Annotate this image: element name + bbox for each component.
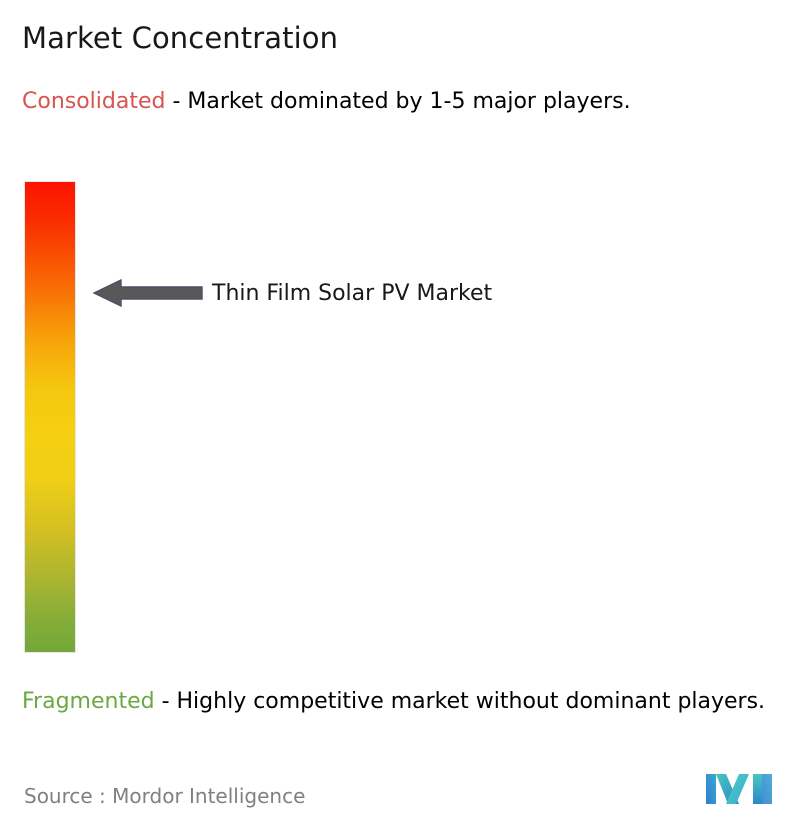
- fragmented-keyword: Fragmented: [22, 689, 155, 714]
- market-position-arrow-icon: [93, 277, 203, 309]
- source-text: Source : Mordor Intelligence: [24, 783, 305, 809]
- consolidated-caption: Consolidated - Market dominated by 1-5 m…: [22, 86, 778, 117]
- fragmented-caption: Fragmented - Highly competitive market w…: [22, 686, 784, 717]
- mordor-intelligence-logo-icon: [706, 770, 772, 808]
- concentration-gradient-bar: [25, 182, 75, 652]
- consolidated-description: - Market dominated by 1-5 major players.: [165, 89, 630, 114]
- page-title: Market Concentration: [22, 20, 338, 56]
- market-concentration-chart: Market Concentration Consolidated - Mark…: [0, 0, 796, 834]
- market-position-label: Thin Film Solar PV Market: [212, 279, 492, 308]
- consolidated-keyword: Consolidated: [22, 89, 165, 114]
- fragmented-description: - Highly competitive market without domi…: [155, 689, 765, 714]
